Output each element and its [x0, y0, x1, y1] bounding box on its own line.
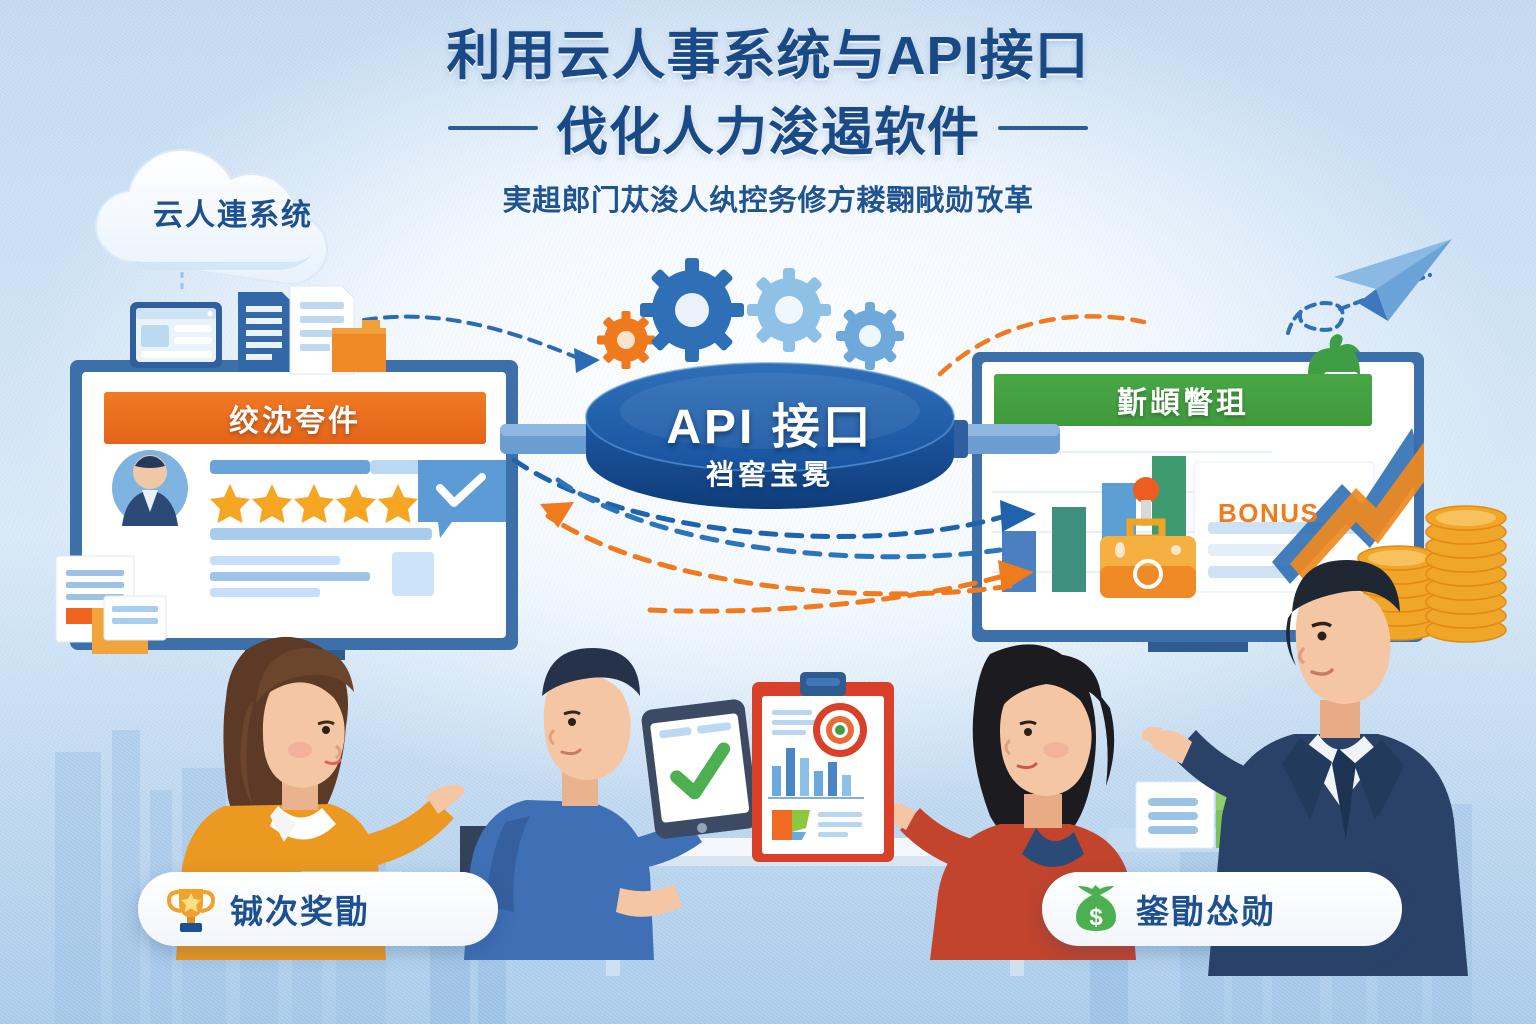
document-lines-icon [238, 292, 292, 372]
page-title-line1: 利用云人事系统与API接口 [0, 26, 1536, 86]
pill-label-reward: 铖次奖勖 [230, 885, 370, 933]
cloud-attached-icons [120, 272, 390, 382]
dashed-arrow-orange-left [540, 502, 574, 528]
infographic-canvas: 利用云人事系统与API接口 伐化人力浚遏软件 実趄郎门苁浚人纨控务修方耧翾戙勋攷… [0, 0, 1536, 1024]
pill-label-bonus: 䤰勖怂勋 [1136, 885, 1276, 933]
bottom-pill-reward[interactable]: 铖次奖勖 [138, 872, 498, 946]
browser-window-icon [130, 302, 222, 368]
page-title-line2: 伐化人力浚遏软件 [556, 90, 980, 165]
title-rule-right [998, 126, 1088, 130]
paper-plane-icon [1280, 225, 1500, 355]
header: 利用云人事系统与API接口 伐化人力浚遏软件 実趄郎门苁浚人纨控务修方耧翾戙勋攷… [0, 26, 1536, 219]
bottom-pill-bonus[interactable]: $ 䤰勖怂勋 [1042, 872, 1402, 946]
clipboard-icon[interactable] [748, 668, 898, 868]
dashed-connector-cloud [360, 300, 620, 380]
gear-large-blue [640, 258, 744, 362]
left-banner-label: 绞沈夸件 [104, 392, 486, 444]
trophy-icon [168, 885, 214, 933]
gear-medium-lightblue [747, 268, 831, 352]
api-sublabel: 裆窖宝冕 [582, 453, 958, 493]
plane-body [1334, 239, 1452, 321]
title-rule-left [448, 126, 538, 130]
dashed-arc-top-right [930, 300, 1160, 390]
dashed-arrow-blue-right [1000, 500, 1036, 532]
api-label: API 接口 [582, 387, 958, 457]
svg-text:$: $ [1089, 904, 1103, 931]
api-disc[interactable]: API 接口 裆窖宝冕 [582, 355, 958, 525]
page-subtitle: 実趄郎门苁浚人纨控务修方耧翾戙勋攷革 [0, 177, 1536, 219]
bonus-label: BONUS [1218, 498, 1319, 529]
bullseye-target-icon [813, 703, 867, 757]
money-bag-icon: $ [1072, 885, 1120, 933]
